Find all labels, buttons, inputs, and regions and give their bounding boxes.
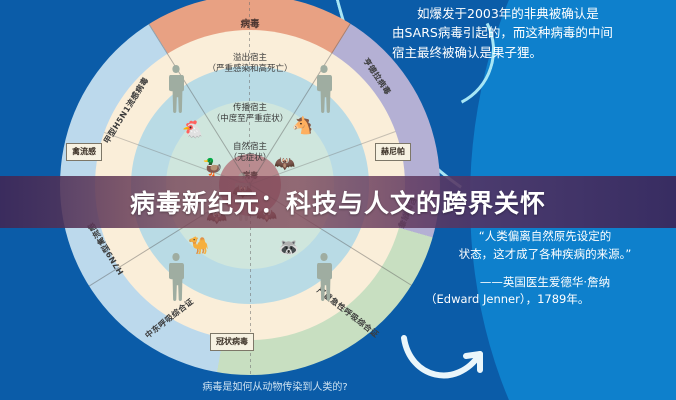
quote-attribution-1: ——英国医生爱德华·詹纳 bbox=[425, 274, 665, 292]
quote-line-2: 状态，这才成了各种疾病的来源。” bbox=[425, 246, 665, 264]
human-silhouette-icon bbox=[166, 65, 186, 117]
civet-icon: 🦝 bbox=[278, 239, 299, 256]
virus-group-tag-henipah: 赫尼帕 bbox=[375, 143, 411, 161]
topnote-line-3: 宿主最终被确认是果子狸。 bbox=[392, 43, 668, 62]
ring-label-transmit-sub: （中度至严重症状） bbox=[212, 114, 289, 125]
ring-label-spillover-host: 溢出宿主 （严重感染和高死亡） bbox=[207, 53, 292, 74]
chicken-icon: 🐔 bbox=[182, 121, 203, 138]
ring-label-spillover-main: 溢出宿主 bbox=[207, 53, 292, 64]
virus-group-tag-avian-flu: 禽流感 bbox=[66, 143, 102, 161]
sars-explanation-text: 如爆发于2003年的非典被确认是 由SARS病毒引起的，而这种病毒的中间 宿主最… bbox=[392, 4, 668, 62]
infographic-canvas: 病毒 溢出宿主 （严重感染和高死亡） 传播宿主 （中度至严重症状） 自然宿主 （… bbox=[0, 0, 676, 400]
jenner-quote-block: “人类偏离自然原先设定的 状态，这才成了各种疾病的来源。” ——英国医生爱德华·… bbox=[425, 228, 665, 309]
camel-icon: 🐪 bbox=[188, 237, 209, 254]
topnote-line-2: 由SARS病毒引起的，而这种病毒的中间 bbox=[392, 23, 668, 42]
ring-label-natural-host: 自然宿主 （无症状） bbox=[229, 142, 272, 163]
human-silhouette-icon bbox=[314, 65, 334, 117]
ring-label-transmission-host: 传播宿主 （中度至严重症状） bbox=[212, 103, 289, 124]
ring-label-spillover-sub: （严重感染和高死亡） bbox=[207, 64, 292, 75]
duck-icon: 🦆 bbox=[202, 159, 223, 176]
horse-icon: 🐴 bbox=[292, 117, 313, 134]
topnote-line-1: 如爆发于2003年的非典被确认是 bbox=[392, 4, 668, 23]
human-silhouette-icon bbox=[166, 253, 186, 305]
diagram-caption: 病毒是如何从动物传染到人类的? bbox=[140, 378, 410, 393]
virus-group-tag-coronavirus: 冠状病毒 bbox=[210, 333, 254, 351]
quote-line-1: “人类偏离自然原先设定的 bbox=[425, 228, 665, 246]
bat-icon: 🦇 bbox=[274, 155, 295, 172]
ring-label-natural-sub: （无症状） bbox=[229, 153, 272, 164]
title-banner: 病毒新纪元：科技与人文的跨界关怀 bbox=[0, 176, 676, 228]
page-title: 病毒新纪元：科技与人文的跨界关怀 bbox=[130, 184, 546, 220]
ring-label-virus-outer: 病毒 bbox=[240, 19, 259, 31]
ring-label-transmit-main: 传播宿主 bbox=[212, 103, 289, 114]
ring-label-natural-main: 自然宿主 bbox=[229, 142, 272, 153]
human-silhouette-icon bbox=[314, 253, 334, 305]
quote-attribution-2: （Edward Jenner），1789年。 bbox=[425, 291, 665, 309]
